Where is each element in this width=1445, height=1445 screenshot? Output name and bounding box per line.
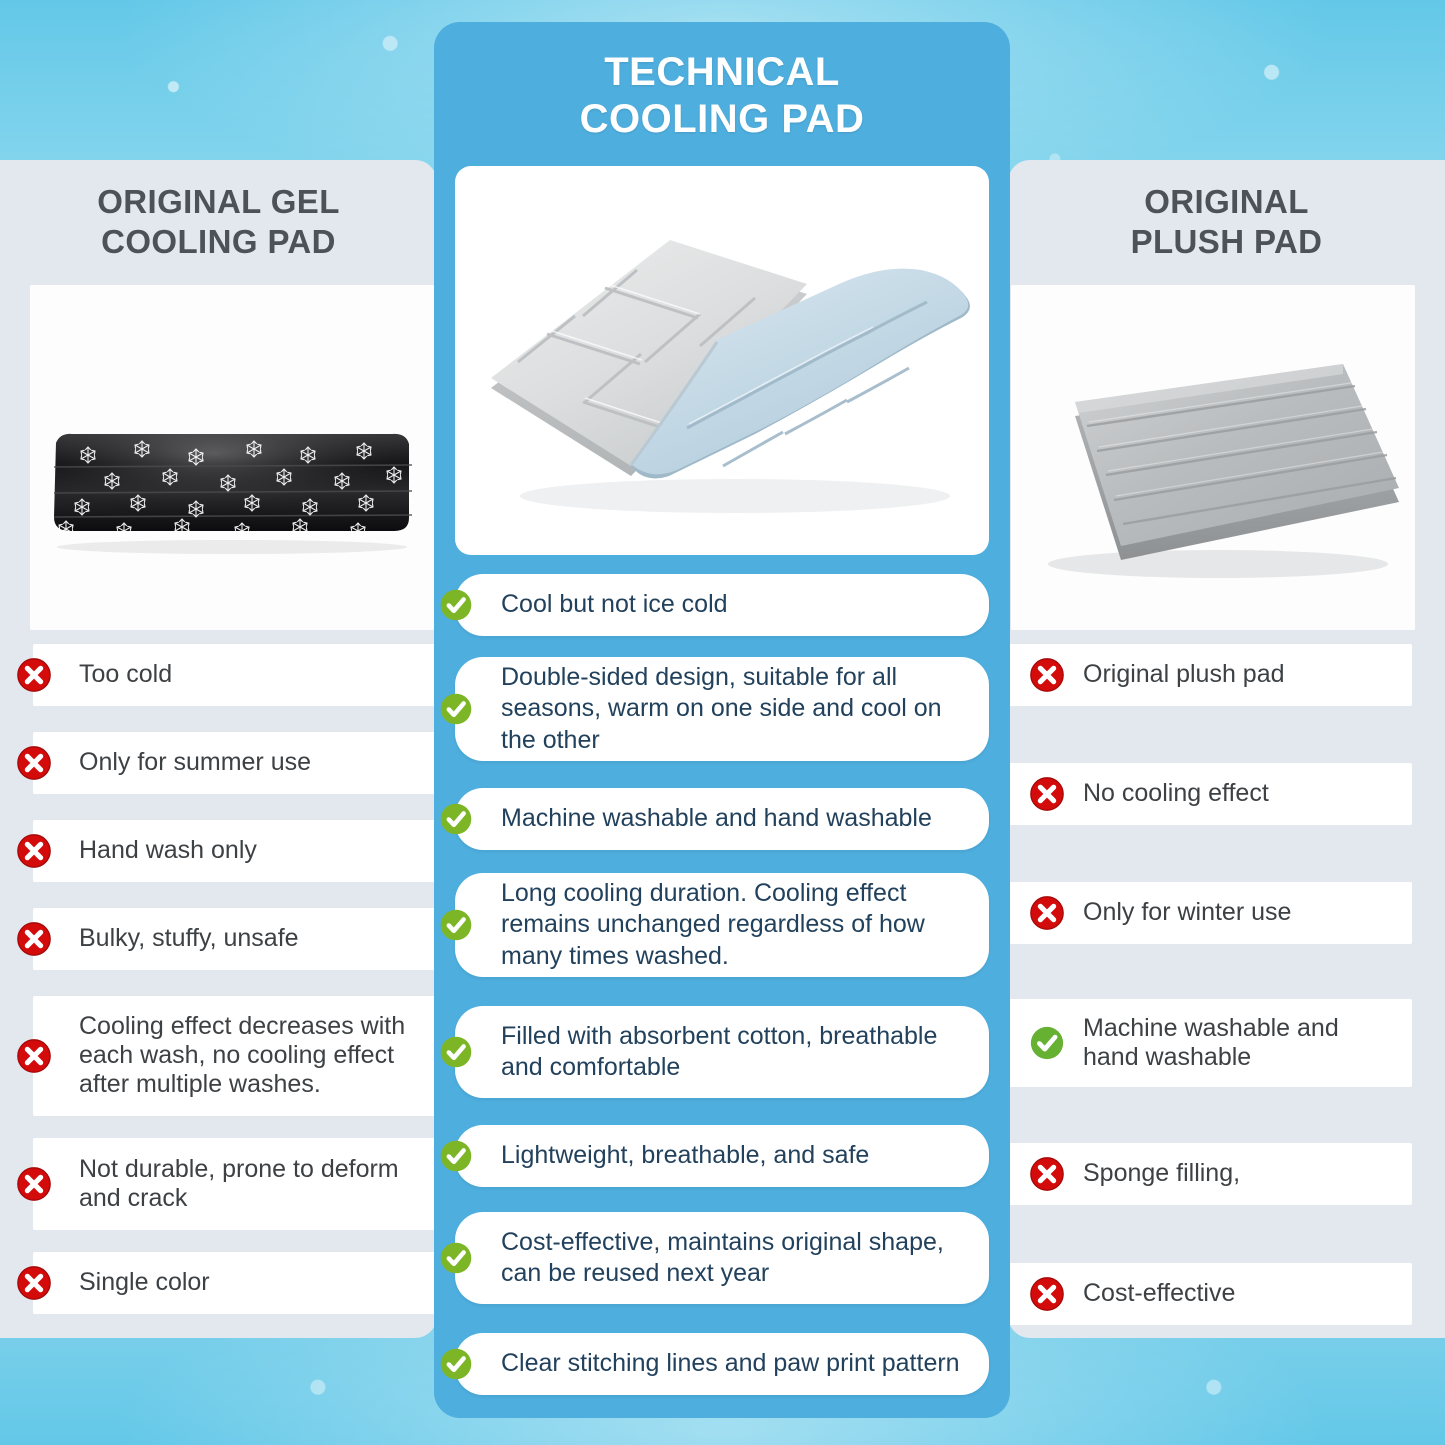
- feature-item: Lightweight, breathable, and safe: [455, 1125, 989, 1187]
- check-icon: [438, 1346, 474, 1382]
- feature-item: Long cooling duration. Cooling effect re…: [455, 873, 989, 977]
- feature-item: Filled with absorbent cotton, breathable…: [455, 1006, 989, 1098]
- cross-icon: [15, 1264, 53, 1302]
- left-product-panel: ORIGINAL GEL COOLING PAD: [0, 160, 437, 1338]
- feature-label: Machine washable and hand washable: [455, 803, 950, 835]
- center-title-line2: COOLING PAD: [434, 96, 1010, 143]
- list-item-label: Bulky, stuffy, unsafe: [33, 924, 313, 953]
- check-icon: [438, 801, 474, 837]
- list-item: Machine washable and hand washable: [1008, 999, 1412, 1087]
- list-item: Only for winter use: [1008, 882, 1412, 944]
- cross-icon: [15, 1037, 53, 1075]
- feature-item: Double-sided design, suitable for all se…: [455, 657, 989, 761]
- list-item: Cooling effect decreases with each wash,…: [33, 996, 437, 1116]
- check-icon: [438, 587, 474, 623]
- list-item: Hand wash only: [33, 820, 437, 882]
- cross-icon: [1028, 775, 1066, 813]
- list-item: Sponge filling,: [1008, 1143, 1412, 1205]
- left-title-line2: COOLING PAD: [0, 222, 437, 262]
- feature-label: Long cooling duration. Cooling effect re…: [455, 878, 989, 973]
- center-panel-title: TECHNICAL COOLING PAD: [434, 22, 1010, 143]
- feature-label: Cost-effective, maintains original shape…: [455, 1227, 989, 1290]
- comparison-infographic: ORIGINAL GEL COOLING PAD: [0, 0, 1445, 1445]
- list-item: Not durable, prone to deform and crack: [33, 1138, 437, 1230]
- list-item: Cost-effective: [1008, 1263, 1412, 1325]
- list-item-label: Cooling effect decreases with each wash,…: [33, 1012, 437, 1099]
- list-item: Bulky, stuffy, unsafe: [33, 908, 437, 970]
- right-product-panel: ORIGINAL PLUSH PAD: [1008, 160, 1445, 1338]
- check-icon: [438, 691, 474, 727]
- left-title-line1: ORIGINAL GEL: [0, 182, 437, 222]
- cross-icon: [1028, 1155, 1066, 1193]
- feature-label: Double-sided design, suitable for all se…: [455, 662, 989, 757]
- check-icon: [438, 1240, 474, 1276]
- center-product-image: [455, 166, 989, 555]
- feature-item: Machine washable and hand washable: [455, 788, 989, 850]
- feature-label: Clear stitching lines and paw print patt…: [455, 1348, 978, 1380]
- feature-item: Cost-effective, maintains original shape…: [455, 1212, 989, 1304]
- list-item: No cooling effect: [1008, 763, 1412, 825]
- center-product-panel: TECHNICAL COOLING PAD: [434, 22, 1010, 1418]
- list-item: Original plush pad: [1008, 644, 1412, 706]
- gel-pad-illustration: [46, 407, 418, 559]
- right-title-line2: PLUSH PAD: [1008, 222, 1445, 262]
- feature-label: Lightweight, breathable, and safe: [455, 1140, 887, 1172]
- list-item-label: Hand wash only: [33, 836, 271, 865]
- check-icon: [438, 907, 474, 943]
- cross-icon: [1028, 894, 1066, 932]
- check-icon: [1028, 1024, 1066, 1062]
- list-item: Too cold: [33, 644, 437, 706]
- cross-icon: [1028, 656, 1066, 694]
- right-feature-rows: Original plush pad No cooling effect Onl…: [1008, 644, 1445, 1325]
- feature-label: Cool but not ice cold: [455, 589, 746, 621]
- cross-icon: [15, 1165, 53, 1203]
- cross-icon: [15, 920, 53, 958]
- right-panel-title: ORIGINAL PLUSH PAD: [1008, 160, 1445, 263]
- cross-icon: [1028, 1275, 1066, 1313]
- list-item-label: Too cold: [33, 660, 186, 689]
- list-item-label: Only for summer use: [33, 748, 325, 777]
- check-icon: [438, 1034, 474, 1070]
- right-product-image: [1011, 285, 1415, 630]
- cross-icon: [15, 656, 53, 694]
- left-feature-rows: Too cold Only for summer use Hand wash o…: [0, 644, 437, 1314]
- feature-item: Clear stitching lines and paw print patt…: [455, 1333, 989, 1395]
- list-item-label: Single color: [33, 1268, 224, 1297]
- cross-icon: [15, 744, 53, 782]
- left-panel-title: ORIGINAL GEL COOLING PAD: [0, 160, 437, 263]
- feature-label: Filled with absorbent cotton, breathable…: [455, 1021, 989, 1084]
- list-item-label: Not durable, prone to deform and crack: [33, 1155, 437, 1213]
- feature-item: Cool but not ice cold: [455, 574, 989, 636]
- list-item: Only for summer use: [33, 732, 437, 794]
- cross-icon: [15, 832, 53, 870]
- cooling-pad-illustration: [455, 166, 989, 555]
- list-item: Single color: [33, 1252, 437, 1314]
- plush-pad-illustration: [1013, 312, 1413, 602]
- list-item-label: Machine washable and hand washable: [1008, 1014, 1412, 1072]
- right-title-line1: ORIGINAL: [1008, 182, 1445, 222]
- center-title-line1: TECHNICAL: [434, 49, 1010, 96]
- check-icon: [438, 1138, 474, 1174]
- left-product-image: [30, 285, 434, 630]
